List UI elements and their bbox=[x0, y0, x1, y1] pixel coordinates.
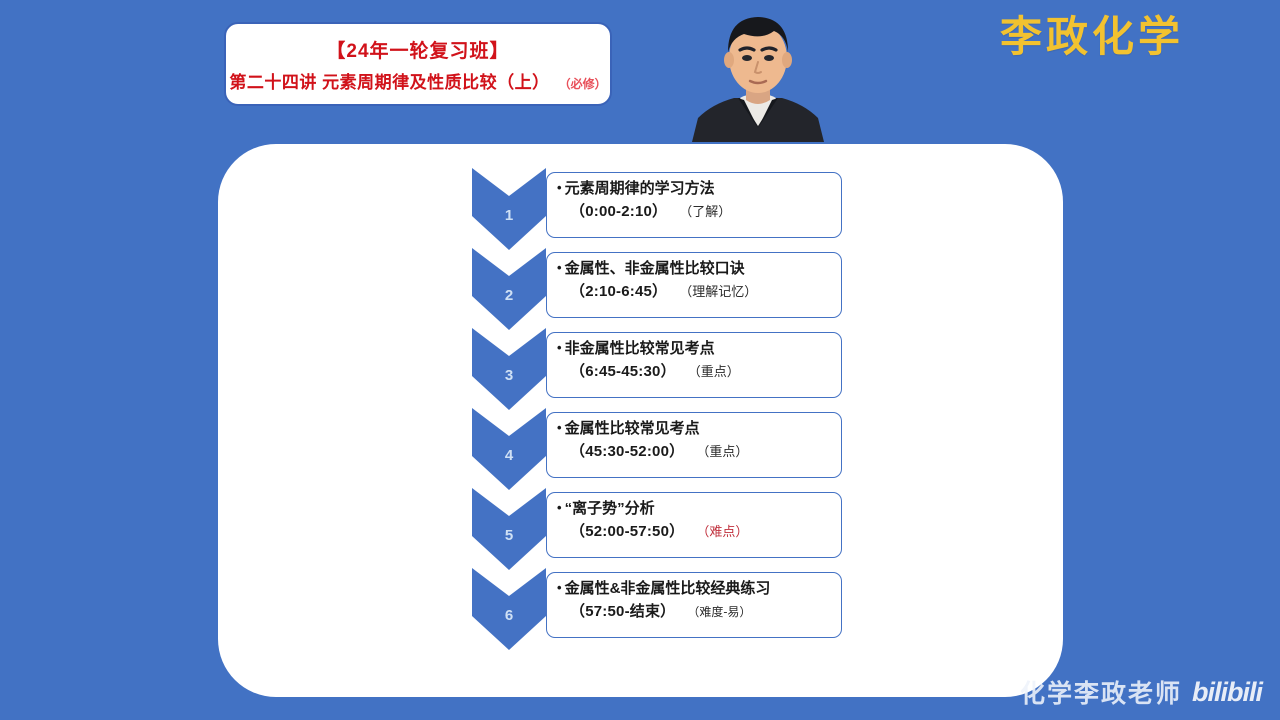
agenda-item-3[interactable]: 3 • 非金属性比较常见考点 （6:45-45:30） （重点） bbox=[472, 328, 842, 408]
agenda-item-2[interactable]: 2 • 金属性、非金属性比较口诀 （2:10-6:45） （理解记忆） bbox=[472, 248, 842, 328]
agenda-item-meta-row: （0:00-2:10） （了解） bbox=[557, 200, 835, 221]
agenda-item-1[interactable]: 1 • 元素周期律的学习方法 （0:00-2:10） （了解） bbox=[472, 168, 842, 248]
agenda-item-6[interactable]: 6 • 金属性&非金属性比较经典练习 （57:50-结束） （难度-易） bbox=[472, 568, 842, 648]
bullet-icon: • bbox=[557, 181, 562, 194]
bullet-icon: • bbox=[557, 501, 562, 514]
agenda-item-number: 1 bbox=[472, 208, 546, 223]
agenda-item-box: • 金属性比较常见考点 （45:30-52:00） （重点） bbox=[546, 412, 842, 478]
agenda-item-topic: 元素周期律的学习方法 bbox=[565, 180, 715, 197]
agenda-item-time: （52:00-57:50） bbox=[570, 520, 684, 541]
title-series: 【24年一轮复习班】 bbox=[326, 36, 509, 63]
agenda-item-topic: 金属性&非金属性比较经典练习 bbox=[565, 580, 771, 597]
agenda-item-topic: 金属性比较常见考点 bbox=[565, 420, 700, 437]
agenda-item-time: （2:10-6:45） bbox=[570, 280, 667, 301]
agenda-list: 1 • 元素周期律的学习方法 （0:00-2:10） （了解） 2 bbox=[472, 168, 842, 678]
lesson-title-card: 【24年一轮复习班】 第二十四讲 元素周期律及性质比较（上） （必修） bbox=[224, 22, 612, 106]
agenda-item-number: 6 bbox=[472, 608, 546, 623]
watermark: 化学李政老师 bilibili bbox=[1020, 674, 1262, 710]
agenda-item-time: （6:45-45:30） bbox=[570, 360, 676, 381]
agenda-item-tag: （重点） bbox=[696, 441, 748, 460]
agenda-item-tag: （理解记忆） bbox=[679, 281, 757, 300]
bilibili-logo: bilibili bbox=[1192, 677, 1262, 708]
agenda-item-topic-row: • 元素周期律的学习方法 bbox=[557, 180, 835, 197]
chevron-down-icon: 6 bbox=[472, 568, 546, 674]
agenda-item-topic-row: • 金属性比较常见考点 bbox=[557, 420, 835, 437]
agenda-item-time: （45:30-52:00） bbox=[570, 440, 684, 461]
agenda-item-meta-row: （6:45-45:30） （重点） bbox=[557, 360, 835, 381]
agenda-item-topic-row: • “离子势”分析 bbox=[557, 500, 835, 517]
agenda-item-5[interactable]: 5 • “离子势”分析 （52:00-57:50） （难点） bbox=[472, 488, 842, 568]
bullet-icon: • bbox=[557, 421, 562, 434]
agenda-item-topic-row: • 非金属性比较常见考点 bbox=[557, 340, 835, 357]
agenda-item-number: 2 bbox=[472, 288, 546, 303]
agenda-item-box: • 元素周期律的学习方法 （0:00-2:10） （了解） bbox=[546, 172, 842, 238]
agenda-item-tag: （难度-易） bbox=[687, 603, 751, 620]
agenda-item-meta-row: （57:50-结束） （难度-易） bbox=[557, 600, 835, 621]
agenda-item-tag: （难点） bbox=[696, 521, 748, 540]
agenda-item-meta-row: （2:10-6:45） （理解记忆） bbox=[557, 280, 835, 301]
agenda-item-meta-row: （45:30-52:00） （重点） bbox=[557, 440, 835, 461]
bullet-icon: • bbox=[557, 261, 562, 274]
agenda-item-box: • 金属性&非金属性比较经典练习 （57:50-结束） （难度-易） bbox=[546, 572, 842, 638]
title-lesson-row: 第二十四讲 元素周期律及性质比较（上） （必修） bbox=[229, 68, 606, 93]
agenda-item-box: • 非金属性比较常见考点 （6:45-45:30） （重点） bbox=[546, 332, 842, 398]
agenda-item-time: （57:50-结束） bbox=[570, 600, 675, 621]
brand-title: 李政化学 bbox=[1000, 16, 1184, 58]
bullet-icon: • bbox=[557, 581, 562, 594]
slide-canvas: 李政化学 bbox=[0, 0, 1280, 720]
title-course-type: （必修） bbox=[559, 75, 607, 92]
agenda-item-topic-row: • 金属性&非金属性比较经典练习 bbox=[557, 580, 835, 597]
presenter-portrait bbox=[678, 0, 838, 142]
agenda-item-number: 5 bbox=[472, 528, 546, 543]
agenda-item-box: • 金属性、非金属性比较口诀 （2:10-6:45） （理解记忆） bbox=[546, 252, 842, 318]
agenda-item-topic-row: • 金属性、非金属性比较口诀 bbox=[557, 260, 835, 277]
agenda-item-topic: 金属性、非金属性比较口诀 bbox=[565, 260, 745, 277]
agenda-item-time: （0:00-2:10） bbox=[570, 200, 667, 221]
agenda-item-tag: （了解） bbox=[679, 201, 731, 220]
agenda-item-number: 3 bbox=[472, 368, 546, 383]
agenda-item-topic: 非金属性比较常见考点 bbox=[565, 340, 715, 357]
agenda-item-box: • “离子势”分析 （52:00-57:50） （难点） bbox=[546, 492, 842, 558]
watermark-text: 化学李政老师 bbox=[1020, 674, 1182, 710]
agenda-item-topic: “离子势”分析 bbox=[565, 500, 655, 517]
title-lesson-name: 第二十四讲 元素周期律及性质比较（上） bbox=[229, 68, 549, 93]
bullet-icon: • bbox=[557, 341, 562, 354]
agenda-item-meta-row: （52:00-57:50） （难点） bbox=[557, 520, 835, 541]
agenda-item-number: 4 bbox=[472, 448, 546, 463]
agenda-item-4[interactable]: 4 • 金属性比较常见考点 （45:30-52:00） （重点） bbox=[472, 408, 842, 488]
agenda-item-tag: （重点） bbox=[688, 361, 740, 380]
